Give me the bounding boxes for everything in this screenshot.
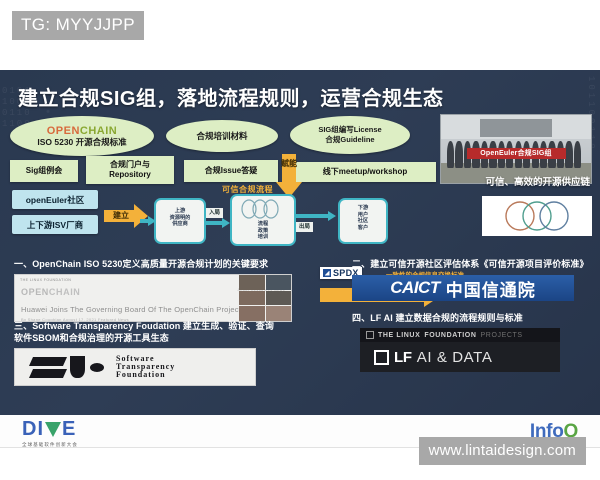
- openchain-brand: OPENCHAIN: [47, 125, 118, 137]
- lfai-logo-aidata: AI & DATA: [417, 349, 493, 366]
- section-three: 三、Software Transparency Foudation 建立生成、验…: [14, 320, 294, 386]
- isv-vendors-label: 上下游ISV厂商: [27, 220, 83, 230]
- openeuler-community-box: openEuler社区: [12, 190, 98, 209]
- section-three-heading-line2: 软件SBOM和合规治理的开源工具生态: [14, 332, 294, 344]
- openchain-shot-logo-open: OPEN: [21, 287, 49, 297]
- build-arrow-label: 建立: [104, 210, 138, 221]
- isv-vendors-box: 上下游ISV厂商: [12, 215, 98, 234]
- caict-logo-en: CAICT: [390, 278, 439, 298]
- meetup-workshop-box: 线下meetup/workshop: [294, 162, 436, 182]
- flow-arrow-1-shape: [204, 218, 230, 228]
- linux-foundation-bar: THE LINUX FOUNDATION PROJECTS: [360, 328, 560, 342]
- tg-tag-overlay: TG: MYYJJPP: [12, 11, 144, 40]
- video-tile: [266, 306, 292, 321]
- photo-banner-text: OpenEuler合规SIG组: [467, 148, 566, 159]
- flow-arrow-2-shape: [296, 211, 336, 221]
- compliance-portal-line2: Repository: [109, 170, 151, 180]
- lf-bar-text-3: PROJECTS: [481, 332, 523, 339]
- compliance-portal-line1: 合规门户与: [110, 160, 150, 170]
- lf-bar-text-1: THE LINUX: [378, 332, 420, 339]
- downstream-node: 下游用户社区客户: [338, 198, 388, 244]
- video-tile: [239, 306, 265, 321]
- meetup-workshop-label: 线下meetup/workshop: [323, 167, 407, 177]
- flow-arrow-0-shape: [140, 216, 156, 226]
- flow-arrow-2: [296, 208, 336, 226]
- stf-wordmark: Software Transparency Foundation: [116, 355, 175, 379]
- license-guideline-ellipse: SIG组编写License 合规Guideline: [290, 116, 410, 154]
- stf-logo-box: Software Transparency Foundation: [14, 348, 256, 386]
- license-guideline-line1: SIG组编写License: [318, 125, 381, 135]
- openeuler-community-label: openEuler社区: [26, 195, 85, 205]
- site-watermark: www.lintaidesign.com: [419, 437, 586, 465]
- license-guideline-line2: 合规Guideline: [325, 135, 374, 145]
- dive-logo-di: DI: [22, 418, 44, 441]
- video-tile: [239, 291, 265, 306]
- video-call-grid: [239, 275, 291, 321]
- training-material-label: 合规培训材料: [196, 131, 247, 142]
- openchain-rings-icon: [482, 196, 592, 236]
- section-two-heading: 二、建立可信开源社区评估体系《可信开源项目评价标准》: [352, 258, 592, 270]
- openchain-ellipse-label: ISO 5230 开源合规标准: [37, 137, 126, 148]
- dive-triangle-icon: [45, 422, 61, 437]
- enable-arrow-label: 赋能: [276, 159, 302, 168]
- stf-glyph-s: [31, 357, 65, 378]
- training-material-ellipse: 合规培训材料: [166, 120, 278, 152]
- section-four: 四、LF AI 建立数据合规的流程规则与标准 THE LINUX FOUNDAT…: [352, 312, 592, 372]
- flow-arrow-1: [204, 215, 230, 233]
- openchain-shot-logo-chain: CHAIN: [49, 287, 81, 297]
- compliance-portal-box: 合规门户与 Repository: [86, 156, 174, 184]
- sig-meeting-label: Sig组例会: [26, 166, 62, 176]
- linux-foundation-square-icon: [366, 331, 374, 339]
- flow-arrow-0: [140, 213, 156, 231]
- openchain-rings-logo: [482, 196, 592, 236]
- photo-caption: 可信、高效的开源供应链: [485, 174, 590, 188]
- stf-word-3: Foundation: [116, 371, 175, 379]
- stf-logo: Software Transparency Foundation: [15, 349, 255, 385]
- photo-screen: [480, 119, 552, 137]
- lfai-square-icon: [374, 350, 389, 365]
- video-tile: [239, 275, 265, 290]
- process-center-label: 流程政策培训: [232, 221, 294, 241]
- upstream-node-label: 上游资源明的供应商: [156, 208, 204, 228]
- lfai-data-logo: LF AI & DATA: [360, 342, 560, 372]
- presentation-slide: 0101100101101100 101100110 建立合规SIG组，落地流程…: [0, 70, 600, 415]
- slide-screenshot: TG: MYYJJPP 0101100101101100 101100110 建…: [0, 0, 600, 480]
- compliance-issue-box: 合规Issue答疑: [184, 160, 278, 182]
- dive-wordmark: DI E: [22, 418, 78, 441]
- spdx-mark-icon: [323, 269, 331, 277]
- section-two: 二、建立可信开源社区评估体系《可信开源项目评价标准》 CAICT 中国信通院: [352, 258, 592, 301]
- dive-logo: DI E 全球基础软件创新大会: [22, 418, 78, 448]
- openchain-brand-open: OPEN: [47, 125, 80, 137]
- process-center-node: 流程政策培训: [230, 194, 296, 246]
- dive-logo-e: E: [62, 418, 76, 441]
- sig-meeting-box: Sig组例会: [10, 160, 78, 182]
- downstream-node-label: 下游用户社区客户: [340, 205, 386, 231]
- caict-logo: CAICT 中国信通院: [352, 275, 574, 301]
- enable-arrow: 赋能: [276, 154, 302, 198]
- lfai-logo-lf: LF: [394, 349, 412, 366]
- lf-bar-text-2: FOUNDATION: [424, 332, 476, 339]
- lfai-logo-box: THE LINUX FOUNDATION PROJECTS LF AI & DA…: [360, 328, 560, 372]
- process-rings-icon: [240, 199, 286, 219]
- compliance-diagram: OPENCHAIN ISO 5230 开源合规标准 合规培训材料 SIG组编写L…: [8, 116, 438, 248]
- openchain-shot-logo: OPENCHAIN: [21, 287, 80, 297]
- caict-logo-cn: 中国信通院: [446, 276, 536, 301]
- stf-glyph-t: [70, 356, 85, 378]
- stf-glyphs: [31, 356, 104, 378]
- section-four-heading: 四、LF AI 建立数据合规的流程规则与标准: [352, 312, 592, 324]
- section-one-screenshot: THE LINUX FOUNDATION OPENCHAIN About Res…: [14, 274, 292, 322]
- openchain-ellipse: OPENCHAIN ISO 5230 开源合规标准: [10, 116, 154, 156]
- openchain-brand-chain: CHAIN: [80, 125, 117, 137]
- caict-logo-box: CAICT 中国信通院: [352, 275, 574, 301]
- section-three-heading-line1: 三、Software Transparency Foudation 建立生成、验…: [14, 320, 294, 332]
- section-one-heading: 一、OpenChain ISO 5230定义高质量开源合规计划的关键要求: [14, 258, 294, 270]
- stf-glyph-f: [90, 363, 104, 372]
- openchain-shot-headline: Huawei Joins The Governing Board Of The …: [21, 305, 241, 314]
- slide-title: 建立合规SIG组，落地流程规则，运营合规生态: [18, 82, 443, 111]
- upstream-node: 上游资源明的供应商: [154, 198, 206, 244]
- video-tile: [266, 291, 292, 306]
- section-one: 一、OpenChain ISO 5230定义高质量开源合规计划的关键要求 THE…: [14, 258, 294, 322]
- video-tile: [266, 275, 292, 290]
- openchain-shot-top-line: THE LINUX FOUNDATION: [20, 278, 71, 282]
- compliance-issue-label: 合规Issue答疑: [205, 166, 257, 176]
